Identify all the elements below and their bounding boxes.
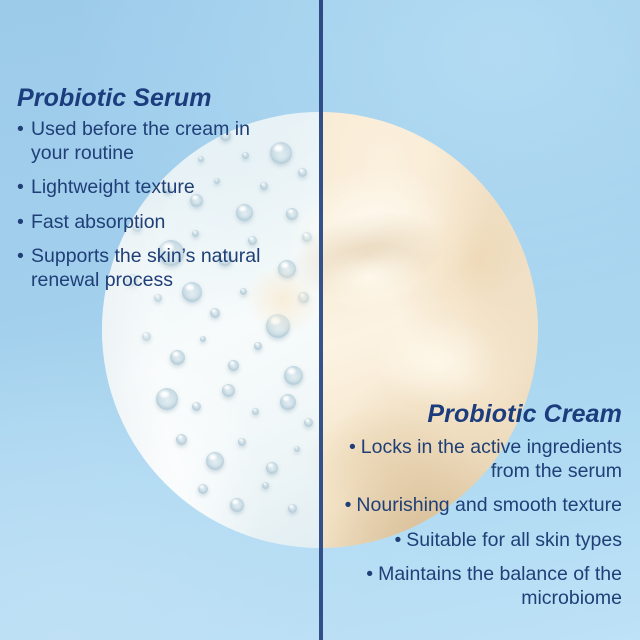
list-item-label: Locks in the active ingredients from the… [361,436,622,482]
serum-droplet [154,294,162,302]
list-item-label: Lightweight texture [31,176,195,198]
bullet-icon: • [345,494,352,516]
list-item-label: Used before the cream in your routine [31,118,250,164]
product-comparison-graphic: Probiotic Serum •Used before the cream i… [0,0,640,640]
serum-droplet [294,446,300,452]
serum-droplet [254,342,262,350]
list-item: •Lightweight texture [17,176,279,200]
serum-droplet [200,336,206,342]
list-item-label: Maintains the balance of the microbiome [378,563,622,609]
serum-droplet [280,394,296,410]
list-item: •Supports the skin’s natural renewal pro… [17,245,279,292]
list-item: •Suitable for all skin types [322,529,622,553]
serum-droplet [298,292,309,303]
list-item: •Locks in the active ingredients from th… [322,436,622,483]
serum-droplet [176,434,187,445]
bullet-icon: • [17,245,24,269]
bullet-icon: • [17,211,24,235]
serum-droplet [278,260,296,278]
list-item: •Used before the cream in your routine [17,118,279,165]
bullet-icon: • [349,436,356,458]
bullet-icon: • [17,176,24,200]
serum-droplet [156,388,178,410]
list-item-label: Fast absorption [31,211,165,233]
serum-droplet [284,366,303,385]
serum-droplet [230,498,244,512]
list-item: •Fast absorption [17,211,279,235]
serum-droplet [142,332,151,341]
serum-droplet [304,418,313,427]
serum-droplet [198,484,208,494]
bullet-icon: • [394,529,401,551]
list-item-label: Nourishing and smooth texture [356,494,622,516]
serum-droplet [170,350,185,365]
serum-droplet [252,408,259,415]
serum-droplet [302,232,312,242]
list-item-label: Supports the skin’s natural renewal proc… [31,245,260,291]
bullet-icon: • [17,118,24,142]
serum-droplet [222,384,235,397]
serum-droplet [206,452,224,470]
serum-title: Probiotic Serum [17,84,212,113]
serum-droplet [228,360,239,371]
serum-droplet [210,308,220,318]
bullet-icon: • [366,563,373,585]
cream-benefit-list: •Locks in the active ingredients from th… [322,436,622,610]
list-item: •Maintains the balance of the microbiome [322,563,622,610]
serum-benefit-list: •Used before the cream in your routine•L… [17,118,279,292]
list-item: •Nourishing and smooth texture [322,494,622,518]
serum-droplet [192,402,201,411]
serum-droplet [286,208,298,220]
serum-droplet [266,462,278,474]
serum-droplet [238,438,246,446]
cream-swirl [270,213,470,343]
serum-droplet [262,482,269,489]
cream-title: Probiotic Cream [427,400,622,429]
serum-droplet [298,168,307,177]
serum-droplet [266,314,290,338]
serum-droplet [288,504,297,513]
list-item-label: Suitable for all skin types [406,529,622,551]
